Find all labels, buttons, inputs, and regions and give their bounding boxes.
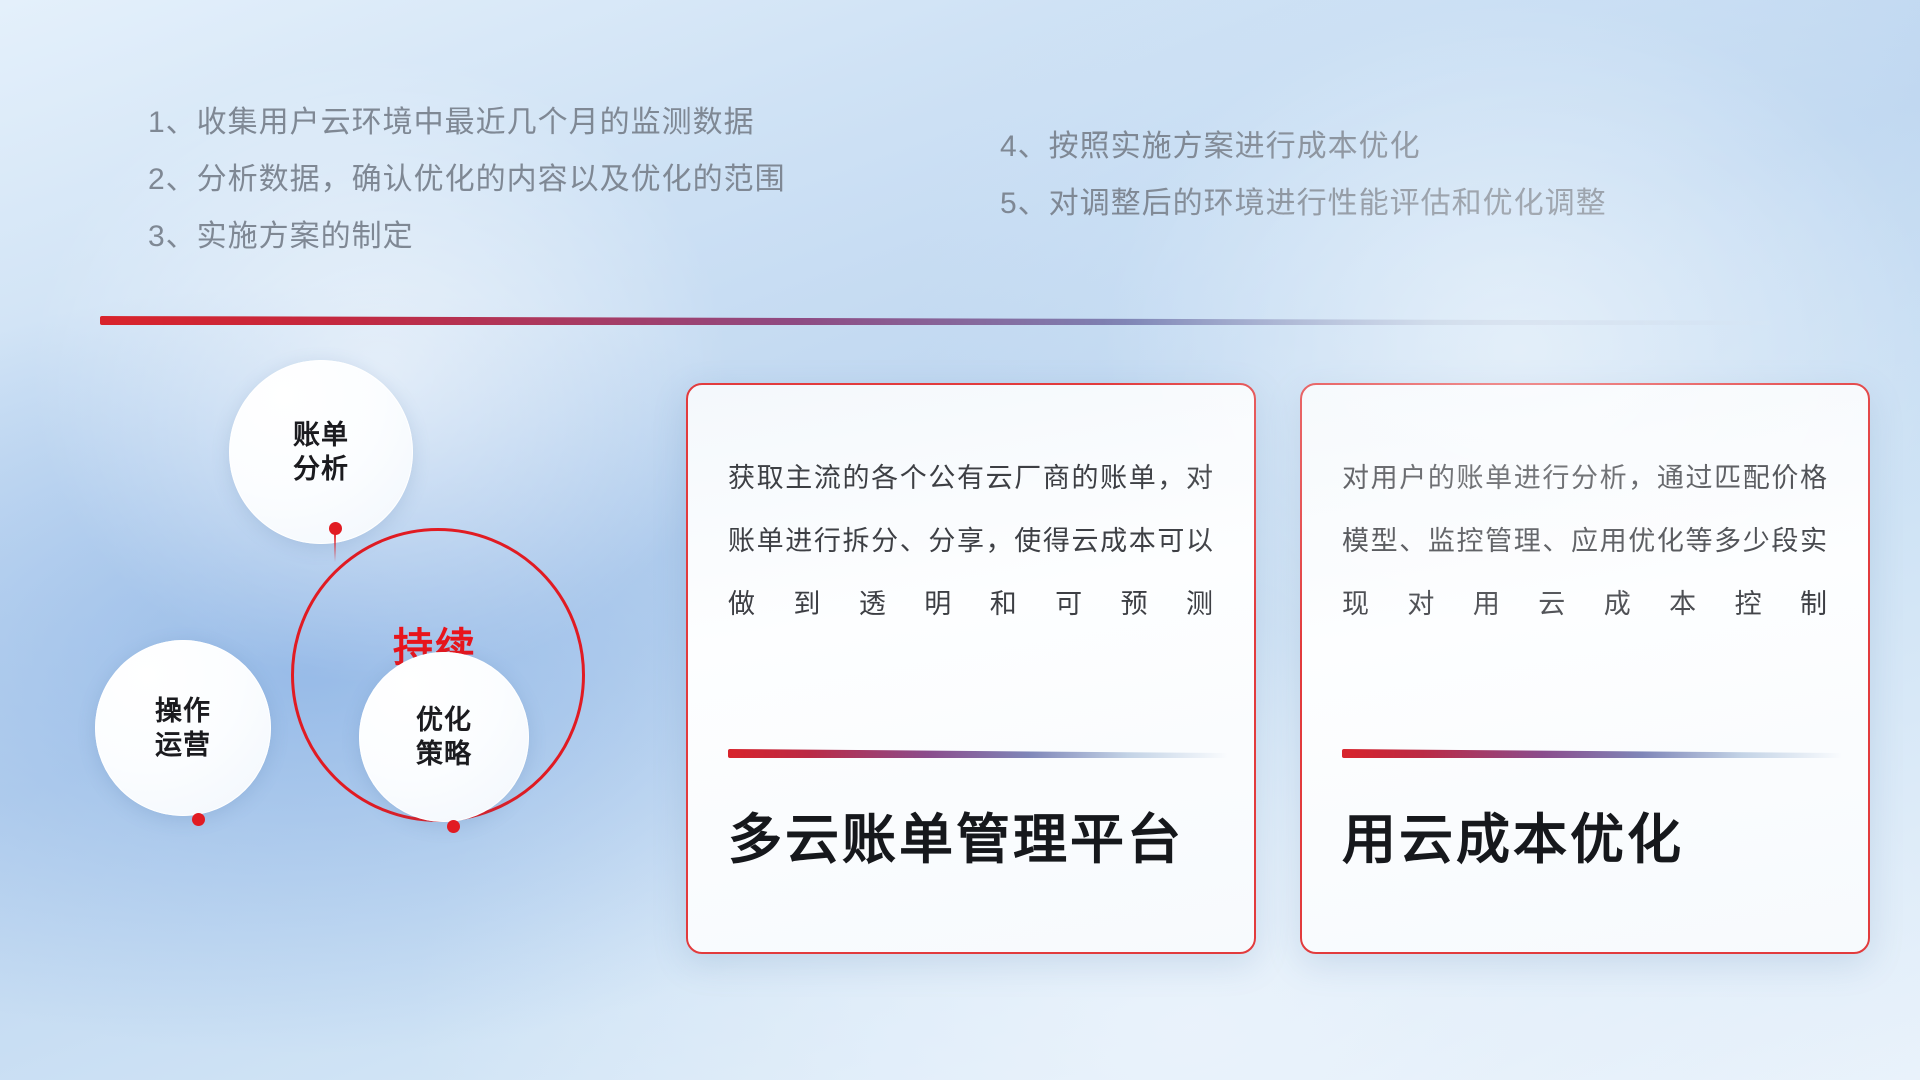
node-dot-bottom-left: [192, 813, 205, 826]
card-multicloud-billing[interactable]: 获取主流的各个公有云厂商的账单，对账单进行拆分、分享，使得云成本可以做到透明和可…: [686, 383, 1256, 954]
node-dot-bottom-right: [447, 820, 460, 833]
steps-section: 1、收集用户云环境中最近几个月的监测数据 2、分析数据，确认优化的内容以及优化的…: [0, 0, 1920, 300]
card-multicloud-billing-body: 获取主流的各个公有云厂商的账单，对账单进行拆分、分享，使得云成本可以做到透明和可…: [728, 447, 1214, 636]
step-item-1: 1、收集用户云环境中最近几个月的监测数据: [148, 94, 786, 151]
bubble-optimization-strategy-line-2: 策略: [416, 737, 472, 771]
bubble-optimization-strategy[interactable]: 优化 策略: [359, 652, 529, 822]
step-item-2: 2、分析数据，确认优化的内容以及优化的范围: [148, 151, 786, 208]
bubble-operations-line-2: 运营: [155, 728, 211, 762]
card-multicloud-billing-title: 多云账单管理平台: [728, 805, 1224, 875]
bubble-bill-analysis-line-2: 分析: [293, 452, 349, 486]
bubble-operations[interactable]: 操作 运营: [95, 640, 271, 816]
step-item-5: 5、对调整后的环境进行性能评估和优化调整: [1000, 175, 1607, 232]
section-divider: [100, 316, 1770, 325]
bubble-operations-line-1: 操作: [155, 694, 211, 728]
card-cloud-cost-optimization-body: 对用户的账单进行分析，通过匹配价格模型、监控管理、应用优化等多少段实现对用云成本…: [1342, 447, 1828, 636]
steps-column-left: 1、收集用户云环境中最近几个月的监测数据 2、分析数据，确认优化的内容以及优化的…: [148, 94, 786, 265]
slide-canvas: 1、收集用户云环境中最近几个月的监测数据 2、分析数据，确认优化的内容以及优化的…: [0, 0, 1920, 1080]
bubble-optimization-strategy-line-1: 优化: [416, 703, 472, 737]
step-item-3: 3、实施方案的制定: [148, 208, 786, 265]
node-tail-top: [334, 532, 336, 562]
bubble-bill-analysis-line-1: 账单: [293, 418, 349, 452]
step-item-4: 4、按照实施方案进行成本优化: [1000, 118, 1607, 175]
venn-diagram: 持续 运营 账单 分析 操作 运营 优化 策略: [95, 360, 625, 930]
bubble-bill-analysis[interactable]: 账单 分析: [229, 360, 413, 544]
card-cloud-cost-optimization[interactable]: 对用户的账单进行分析，通过匹配价格模型、监控管理、应用优化等多少段实现对用云成本…: [1300, 383, 1870, 954]
steps-column-right: 4、按照实施方案进行成本优化 5、对调整后的环境进行性能评估和优化调整: [1000, 118, 1607, 232]
card-cloud-cost-optimization-title: 用云成本优化: [1342, 805, 1838, 875]
